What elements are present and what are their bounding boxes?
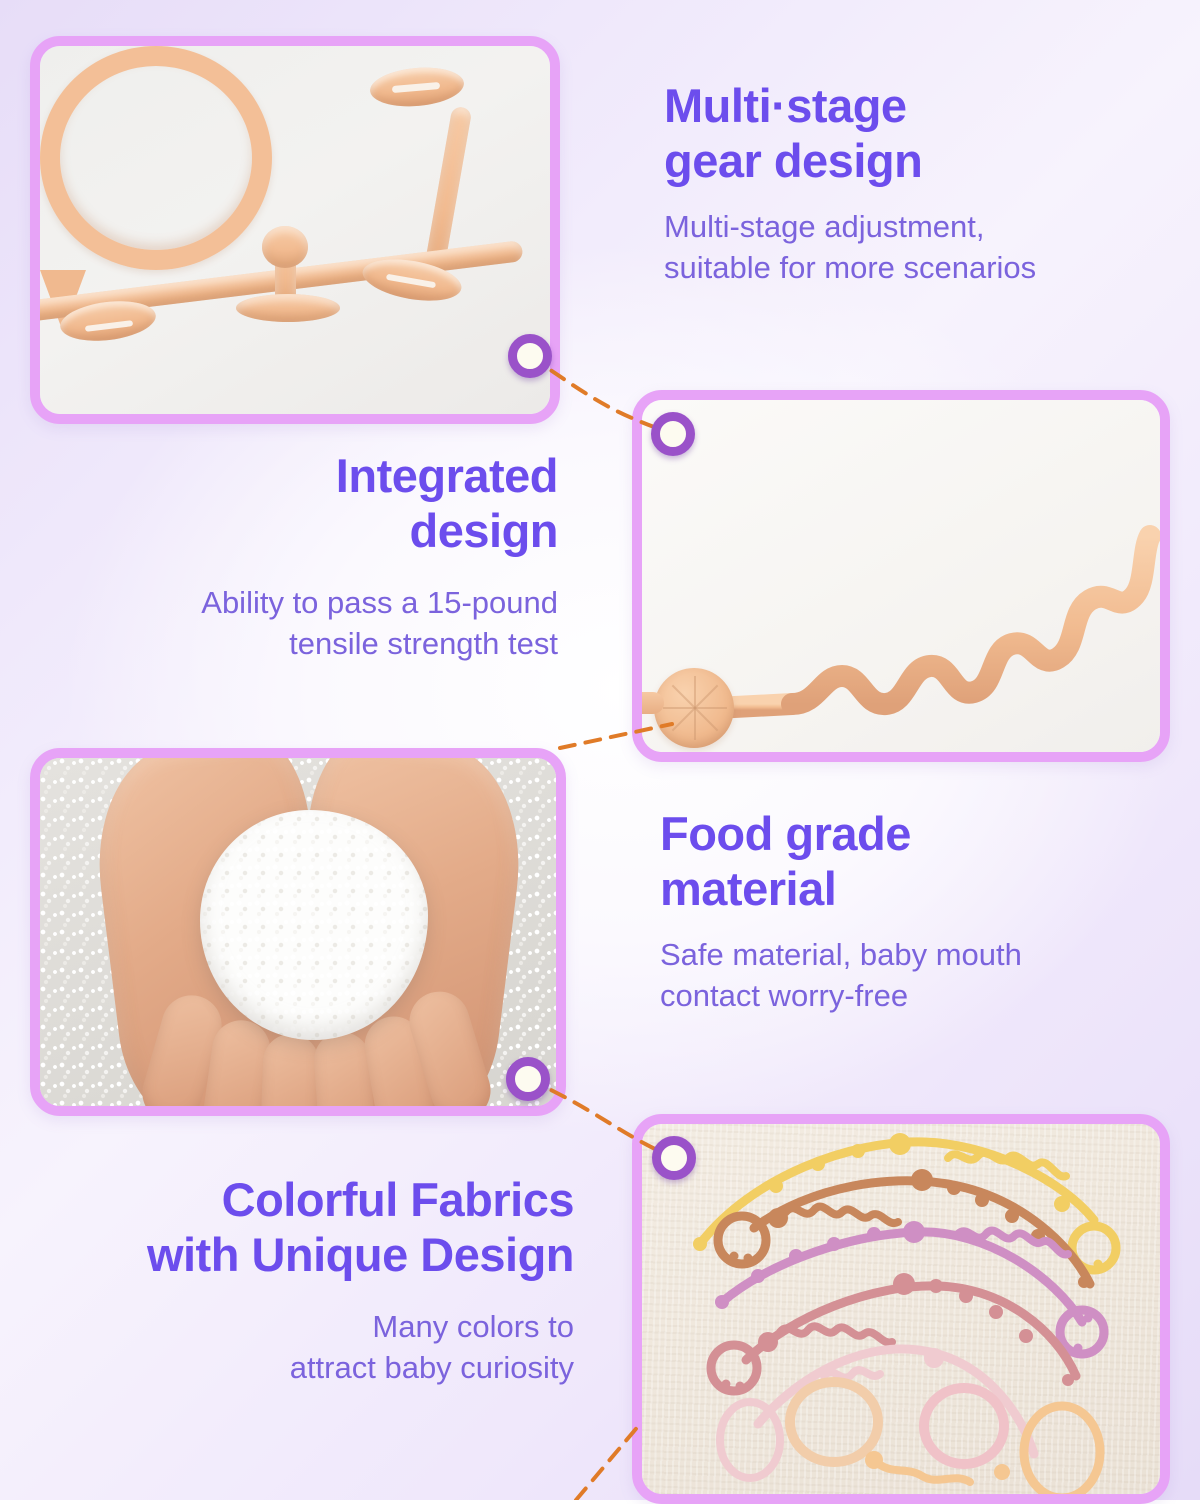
feature-text-colorful-fabrics: Colorful Fabrics with Unique Design Many… [88,1172,574,1389]
feature-body-line2: attract baby curiosity [290,1350,574,1385]
feature-heading: Colorful Fabrics with Unique Design [88,1172,574,1283]
panel-color-straps-image [642,1124,1160,1494]
feature-heading-line1: Multi·stage [664,79,907,132]
connector-node-panel2 [651,412,695,456]
cord-end-stub [642,692,664,714]
strap-collar [236,294,340,322]
panel-wavy-cord-image [642,400,1160,752]
feature-body-line1: Multi-stage adjustment, [664,209,984,244]
feature-body-line1: Many colors to [372,1309,574,1344]
feature-body-line1: Safe material, baby mouth [660,937,1022,972]
strap-dusty-rose [711,1273,1076,1391]
feature-text-multi-stage-gear-design: Multi·stage gear design Multi-stage adju… [664,78,1134,289]
connector-line-tail [576,1424,640,1500]
connector-node-panel3 [506,1057,550,1101]
panel-pellets-image [40,758,556,1106]
feature-heading-line1: Colorful Fabrics [222,1173,574,1226]
panel-color-straps [632,1114,1170,1504]
feature-heading-line2: material [660,862,836,915]
feature-heading: Integrated design [128,448,558,559]
connector-node-panel4 [652,1136,696,1180]
feature-heading-line1: Food grade [660,807,911,860]
strap-light-pink [720,1348,1100,1494]
feature-body: Ability to pass a 15-pound tensile stren… [128,583,558,665]
panel-wavy-cord [632,390,1170,762]
feature-heading: Multi·stage gear design [664,78,1134,189]
feature-text-integrated-design: Integrated design Ability to pass a 15-p… [128,448,558,665]
cord-ribbed-disc [654,668,734,748]
feature-body: Multi-stage adjustment, suitable for mor… [664,207,1134,289]
feature-heading-line1: Integrated [336,449,558,502]
panel-product-loop [30,36,560,424]
panel-product-loop-image [40,46,550,414]
feature-body: Many colors to attract baby curiosity [88,1307,574,1389]
feature-body-line1: Ability to pass a 15-pound [201,585,558,620]
strap-peach-ring-left [790,1382,878,1462]
feature-heading-line2: design [410,504,558,557]
infographic-canvas: Multi·stage gear design Multi-stage adju… [0,0,1200,1500]
feature-body-line2: contact worry-free [660,978,908,1013]
feature-heading-line2: gear design [664,134,922,187]
connector-node-panel1 [508,334,552,378]
feature-heading-line2: with Unique Design [147,1228,574,1281]
strap-loop [40,46,272,270]
silicone-strap-illustration [40,46,550,414]
strap-pink-ring-right [924,1388,1004,1464]
strap-ball-stopper [262,226,308,268]
panel-pellets-in-hands [30,748,566,1116]
cord-wave-segment [792,536,1150,704]
feature-body: Safe material, baby mouth contact worry-… [660,935,1130,1017]
feature-heading: Food grade material [660,806,1130,917]
left-finger-3 [260,1033,320,1106]
color-straps-illustration [642,1124,1160,1494]
feature-body-line2: tensile strength test [289,626,558,661]
feature-text-food-grade-material: Food grade material Safe material, baby … [660,806,1130,1017]
feature-body-line2: suitable for more scenarios [664,250,1036,285]
